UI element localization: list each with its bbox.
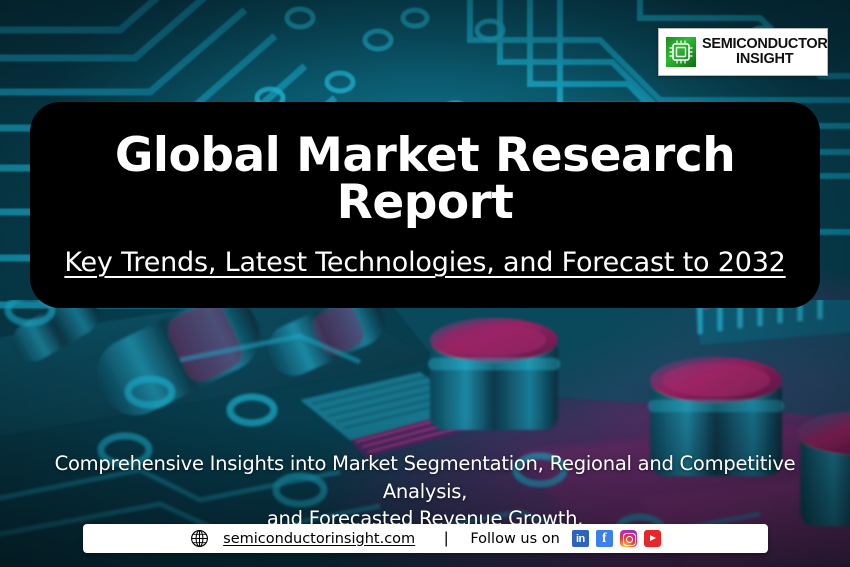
poster-canvas: SEMICONDUCTOR INSIGHT Global Market Rese… xyxy=(0,0,850,567)
social-links xyxy=(572,530,661,547)
follow-us-label: Follow us on xyxy=(470,531,560,547)
footer-divider: | xyxy=(444,530,448,548)
title-card: Global Market Research Report Key Trends… xyxy=(30,102,820,308)
microchip-icon xyxy=(666,37,696,67)
linkedin-icon[interactable] xyxy=(572,530,589,547)
brand-logo[interactable]: SEMICONDUCTOR INSIGHT xyxy=(658,28,828,76)
globe-icon xyxy=(190,529,209,548)
website-link[interactable]: semiconductorinsight.com xyxy=(223,531,415,547)
brand-name-line2: INSIGHT xyxy=(702,52,828,67)
instagram-icon[interactable] xyxy=(620,530,637,547)
report-description: Comprehensive Insights into Market Segme… xyxy=(25,450,825,533)
report-title: Global Market Research Report xyxy=(30,132,820,226)
brand-name-line1: SEMICONDUCTOR xyxy=(702,37,828,52)
brand-logo-text: SEMICONDUCTOR INSIGHT xyxy=(702,37,828,67)
facebook-icon[interactable] xyxy=(596,530,613,547)
report-subtitle: Key Trends, Latest Technologies, and For… xyxy=(64,247,785,278)
youtube-icon[interactable] xyxy=(644,530,661,547)
description-line-1: Comprehensive Insights into Market Segme… xyxy=(25,450,825,505)
footer-bar: semiconductorinsight.com | Follow us on xyxy=(83,524,768,553)
